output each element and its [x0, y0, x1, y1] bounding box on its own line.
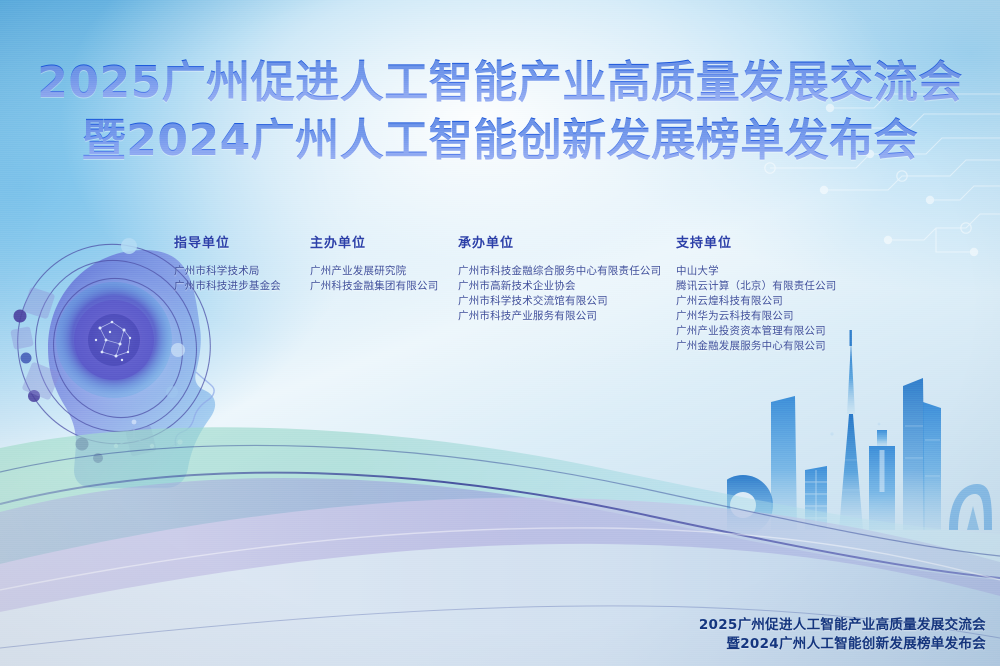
org-item: 广州金融发展服务中心有限公司	[676, 339, 837, 354]
org-item: 广州市科学技术交流馆有限公司	[458, 294, 661, 309]
org-item: 广州市科技进步基金会	[174, 279, 281, 294]
title-line-2: 暨2024广州人工智能创新发展榜单发布会	[0, 116, 1000, 166]
org-column-guidance: 指导单位 广州市科学技术局 广州市科技进步基金会	[174, 232, 281, 294]
bottom-watermark: 2025广州促进人工智能产业高质量发展交流会 暨2024广州人工智能创新发展榜单…	[699, 616, 986, 654]
org-item: 广州科技金融集团有限公司	[310, 279, 438, 294]
org-item: 广州市高新技术企业协会	[458, 279, 661, 294]
org-column-header: 支持单位	[676, 232, 837, 251]
title-line-1: 2025广州促进人工智能产业高质量发展交流会	[0, 58, 1000, 108]
org-item: 广州市科学技术局	[174, 264, 281, 279]
org-item: 广州市科技产业服务有限公司	[458, 309, 661, 324]
conference-banner-backdrop: 2025广州促进人工智能产业高质量发展交流会 暨2024广州人工智能创新发展榜单…	[0, 0, 1000, 666]
org-column-header: 指导单位	[174, 232, 281, 251]
page-title: 2025广州促进人工智能产业高质量发展交流会 暨2024广州人工智能创新发展榜单…	[0, 58, 1000, 166]
org-item: 腾讯云计算（北京）有限责任公司	[676, 279, 837, 294]
org-item: 中山大学	[676, 264, 837, 279]
org-column-host: 主办单位 广州产业发展研究院 广州科技金融集团有限公司	[310, 232, 438, 294]
watermark-line-2: 暨2024广州人工智能创新发展榜单发布会	[699, 635, 986, 654]
org-column-header: 承办单位	[458, 232, 661, 251]
org-item: 广州产业发展研究院	[310, 264, 438, 279]
watermark-line-1: 2025广州促进人工智能产业高质量发展交流会	[699, 616, 986, 635]
org-item: 广州市科技金融综合服务中心有限责任公司	[458, 264, 661, 279]
org-item: 广州云煌科技有限公司	[676, 294, 837, 309]
org-item: 广州华为云科技有限公司	[676, 309, 837, 324]
org-item: 广州产业投资资本管理有限公司	[676, 324, 837, 339]
org-column-supporter: 支持单位 中山大学 腾讯云计算（北京）有限责任公司 广州云煌科技有限公司 广州华…	[676, 232, 837, 354]
org-column-header: 主办单位	[310, 232, 438, 251]
org-column-organizer: 承办单位 广州市科技金融综合服务中心有限责任公司 广州市高新技术企业协会 广州市…	[458, 232, 661, 324]
organization-columns: 指导单位 广州市科学技术局 广州市科技进步基金会 主办单位 广州产业发展研究院 …	[0, 232, 1000, 392]
